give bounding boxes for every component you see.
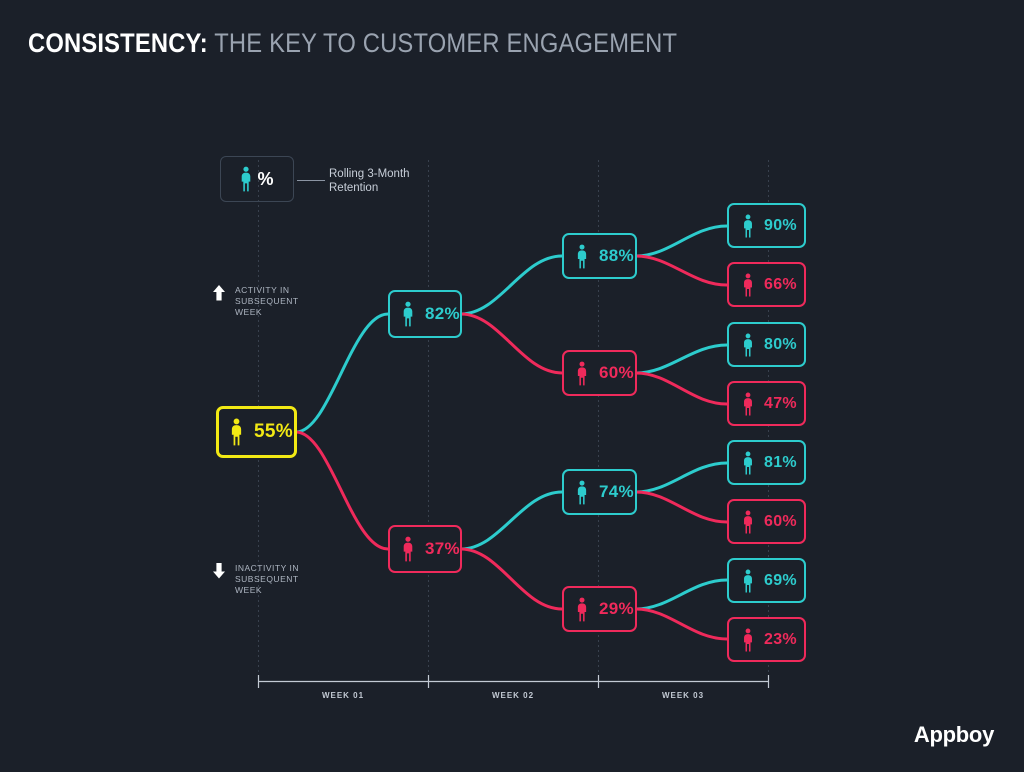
node-66[interactable]: 66% — [727, 262, 806, 307]
axis-label-week-03: WEEK 03 — [623, 691, 743, 700]
node-37[interactable]: 37% — [388, 525, 462, 573]
node-23[interactable]: 23% — [727, 617, 806, 662]
person-icon — [742, 451, 754, 475]
person-icon — [402, 301, 414, 327]
axis-label-week-01: WEEK 01 — [283, 691, 403, 700]
node-82[interactable]: 82% — [388, 290, 462, 338]
node-74[interactable]: 74% — [562, 469, 637, 515]
node-90[interactable]: 90% — [727, 203, 806, 248]
person-icon — [576, 361, 588, 386]
person-icon — [742, 214, 754, 238]
node-value: 69% — [764, 572, 797, 590]
appboy-logo: Appboy — [914, 722, 994, 748]
node-value: 80% — [764, 336, 797, 354]
node-value: 81% — [764, 454, 797, 472]
axis-label-week-02: WEEK 02 — [453, 691, 573, 700]
timeline-axis — [0, 0, 1024, 772]
node-60-b[interactable]: 60% — [727, 499, 806, 544]
node-value: 82% — [425, 304, 460, 324]
person-icon — [402, 536, 414, 562]
node-value: 60% — [599, 363, 634, 383]
node-value: 37% — [425, 539, 460, 559]
node-value: 29% — [599, 599, 634, 619]
node-80[interactable]: 80% — [727, 322, 806, 367]
node-value: 47% — [764, 395, 797, 413]
person-icon — [742, 569, 754, 593]
node-69[interactable]: 69% — [727, 558, 806, 603]
node-value: 55% — [254, 421, 293, 443]
person-icon — [576, 597, 588, 622]
person-icon — [230, 418, 243, 446]
person-icon — [576, 480, 588, 505]
person-icon — [742, 628, 754, 652]
person-icon — [576, 244, 588, 269]
person-icon — [742, 333, 754, 357]
node-value: 23% — [764, 631, 797, 649]
node-29[interactable]: 29% — [562, 586, 637, 632]
node-88[interactable]: 88% — [562, 233, 637, 279]
person-icon — [742, 273, 754, 297]
person-icon — [742, 510, 754, 534]
node-value: 60% — [764, 513, 797, 531]
node-value: 66% — [764, 276, 797, 294]
node-root-55[interactable]: 55% — [216, 406, 297, 458]
infographic-canvas: CONSISTENCY: THE KEY TO CUSTOMER ENGAGEM… — [0, 0, 1024, 772]
node-value: 74% — [599, 482, 634, 502]
node-60-a[interactable]: 60% — [562, 350, 637, 396]
node-81[interactable]: 81% — [727, 440, 806, 485]
node-47[interactable]: 47% — [727, 381, 806, 426]
node-value: 88% — [599, 246, 634, 266]
node-value: 90% — [764, 217, 797, 235]
person-icon — [742, 392, 754, 416]
